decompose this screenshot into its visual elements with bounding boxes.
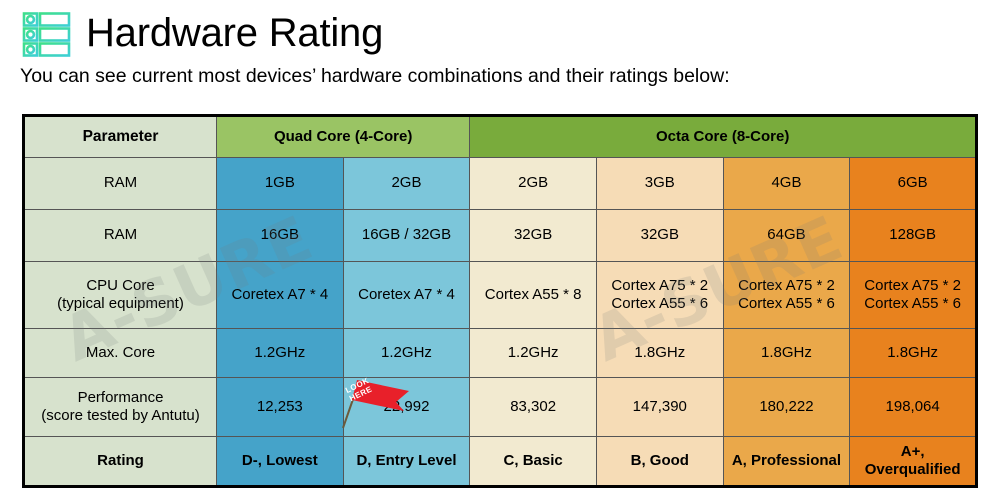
table-cell: 12,253 — [217, 378, 344, 437]
server-list-icon — [22, 11, 72, 57]
row-label: Performance(score tested by Antutu) — [24, 378, 217, 437]
table-cell: C, Basic — [470, 437, 597, 487]
table-cell: 32GB — [596, 210, 723, 262]
table-cell: 147,390 — [596, 378, 723, 437]
hardware-rating-table-container: ParameterQuad Core (4-Core)Octa Core (8-… — [22, 114, 978, 488]
table-row: Performance(score tested by Antutu)12,25… — [24, 378, 977, 437]
table-cell: Coretex A7 * 4 — [343, 262, 470, 329]
table-cell: 1.2GHz — [217, 329, 344, 378]
table-cell: 1.2GHz — [470, 329, 597, 378]
row-label: RAM — [24, 210, 217, 262]
table-cell: 22,992 — [343, 378, 470, 437]
table-cell: 1.8GHz — [723, 329, 850, 378]
table-cell: 32GB — [470, 210, 597, 262]
group-header-octa-core: Octa Core (8-Core) — [470, 116, 977, 158]
table-row: RAM1GB2GB2GB3GB4GB6GB — [24, 158, 977, 210]
table-cell: 198,064 — [850, 378, 977, 437]
table-cell: 1GB — [217, 158, 344, 210]
table-cell: D-, Lowest — [217, 437, 344, 487]
table-cell: 16GB — [217, 210, 344, 262]
table-cell: 16GB / 32GB — [343, 210, 470, 262]
page-subtitle: You can see current most devices’ hardwa… — [0, 65, 1000, 88]
table-row: RAM16GB16GB / 32GB32GB32GB64GB128GB — [24, 210, 977, 262]
table-row: RatingD-, LowestD, Entry LevelC, BasicB,… — [24, 437, 977, 487]
table-cell: 1.2GHz — [343, 329, 470, 378]
table-cell: 1.8GHz — [850, 329, 977, 378]
table-cell: 2GB — [343, 158, 470, 210]
table-cell: 180,222 — [723, 378, 850, 437]
table-cell: A, Professional — [723, 437, 850, 487]
table-cell: 1.8GHz — [596, 329, 723, 378]
table-row: Max. Core1.2GHz1.2GHz1.2GHz1.8GHz1.8GHz1… — [24, 329, 977, 378]
page-header: Hardware Rating — [0, 0, 1000, 58]
row-label: CPU Core(typical equipment) — [24, 262, 217, 329]
table-cell: A+, Overqualified — [850, 437, 977, 487]
table-header-row: ParameterQuad Core (4-Core)Octa Core (8-… — [24, 116, 977, 158]
table-cell: 4GB — [723, 158, 850, 210]
hardware-rating-table: ParameterQuad Core (4-Core)Octa Core (8-… — [22, 114, 978, 488]
table-cell: Cortex A55 * 8 — [470, 262, 597, 329]
table-cell: 83,302 — [470, 378, 597, 437]
column-header-parameter: Parameter — [24, 116, 217, 158]
page-title: Hardware Rating — [86, 13, 383, 53]
group-header-quad-core: Quad Core (4-Core) — [217, 116, 470, 158]
table-cell: D, Entry Level — [343, 437, 470, 487]
row-label: Rating — [24, 437, 217, 487]
table-cell: 6GB — [850, 158, 977, 210]
table-cell: Cortex A75 * 2Cortex A55 * 6 — [596, 262, 723, 329]
table-cell: 2GB — [470, 158, 597, 210]
table-cell: Coretex A7 * 4 — [217, 262, 344, 329]
table-cell: Cortex A75 * 2Cortex A55 * 6 — [723, 262, 850, 329]
row-label: Max. Core — [24, 329, 217, 378]
table-cell: Cortex A75 * 2Cortex A55 * 6 — [850, 262, 977, 329]
table-cell: 64GB — [723, 210, 850, 262]
table-cell: 128GB — [850, 210, 977, 262]
table-row: CPU Core(typical equipment)Coretex A7 * … — [24, 262, 977, 329]
table-cell: B, Good — [596, 437, 723, 487]
row-label: RAM — [24, 158, 217, 210]
table-cell: 3GB — [596, 158, 723, 210]
